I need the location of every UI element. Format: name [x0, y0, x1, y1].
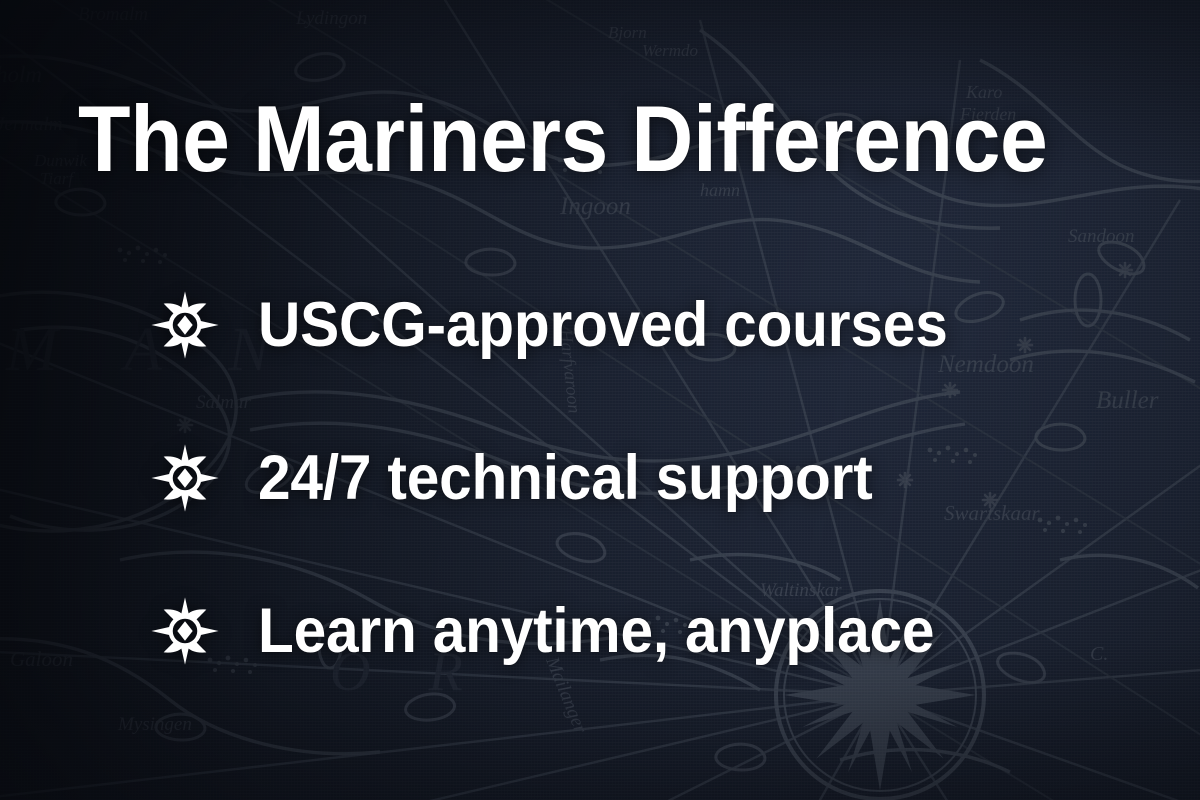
list-item: Learn anytime, anyplace: [150, 588, 1130, 674]
page-title: The Mariners Difference: [78, 92, 1047, 186]
compass-rose-icon: [150, 290, 220, 360]
list-item: USCG-approved courses: [150, 282, 1130, 368]
compass-rose-icon: [150, 596, 220, 666]
list-item-label: Learn anytime, anyplace: [258, 599, 934, 663]
slide-canvas: Bromalm holm Jermalm Dunwik Tiarf Lyding…: [0, 0, 1200, 800]
slide-content: The Mariners Difference: [0, 0, 1200, 800]
compass-rose-icon: [150, 443, 220, 513]
list-item-label: USCG-approved courses: [258, 293, 948, 357]
list-item-label: 24/7 technical support: [258, 446, 873, 510]
list-item: 24/7 technical support: [150, 435, 1130, 521]
benefits-list: USCG-approved courses: [150, 282, 1130, 674]
